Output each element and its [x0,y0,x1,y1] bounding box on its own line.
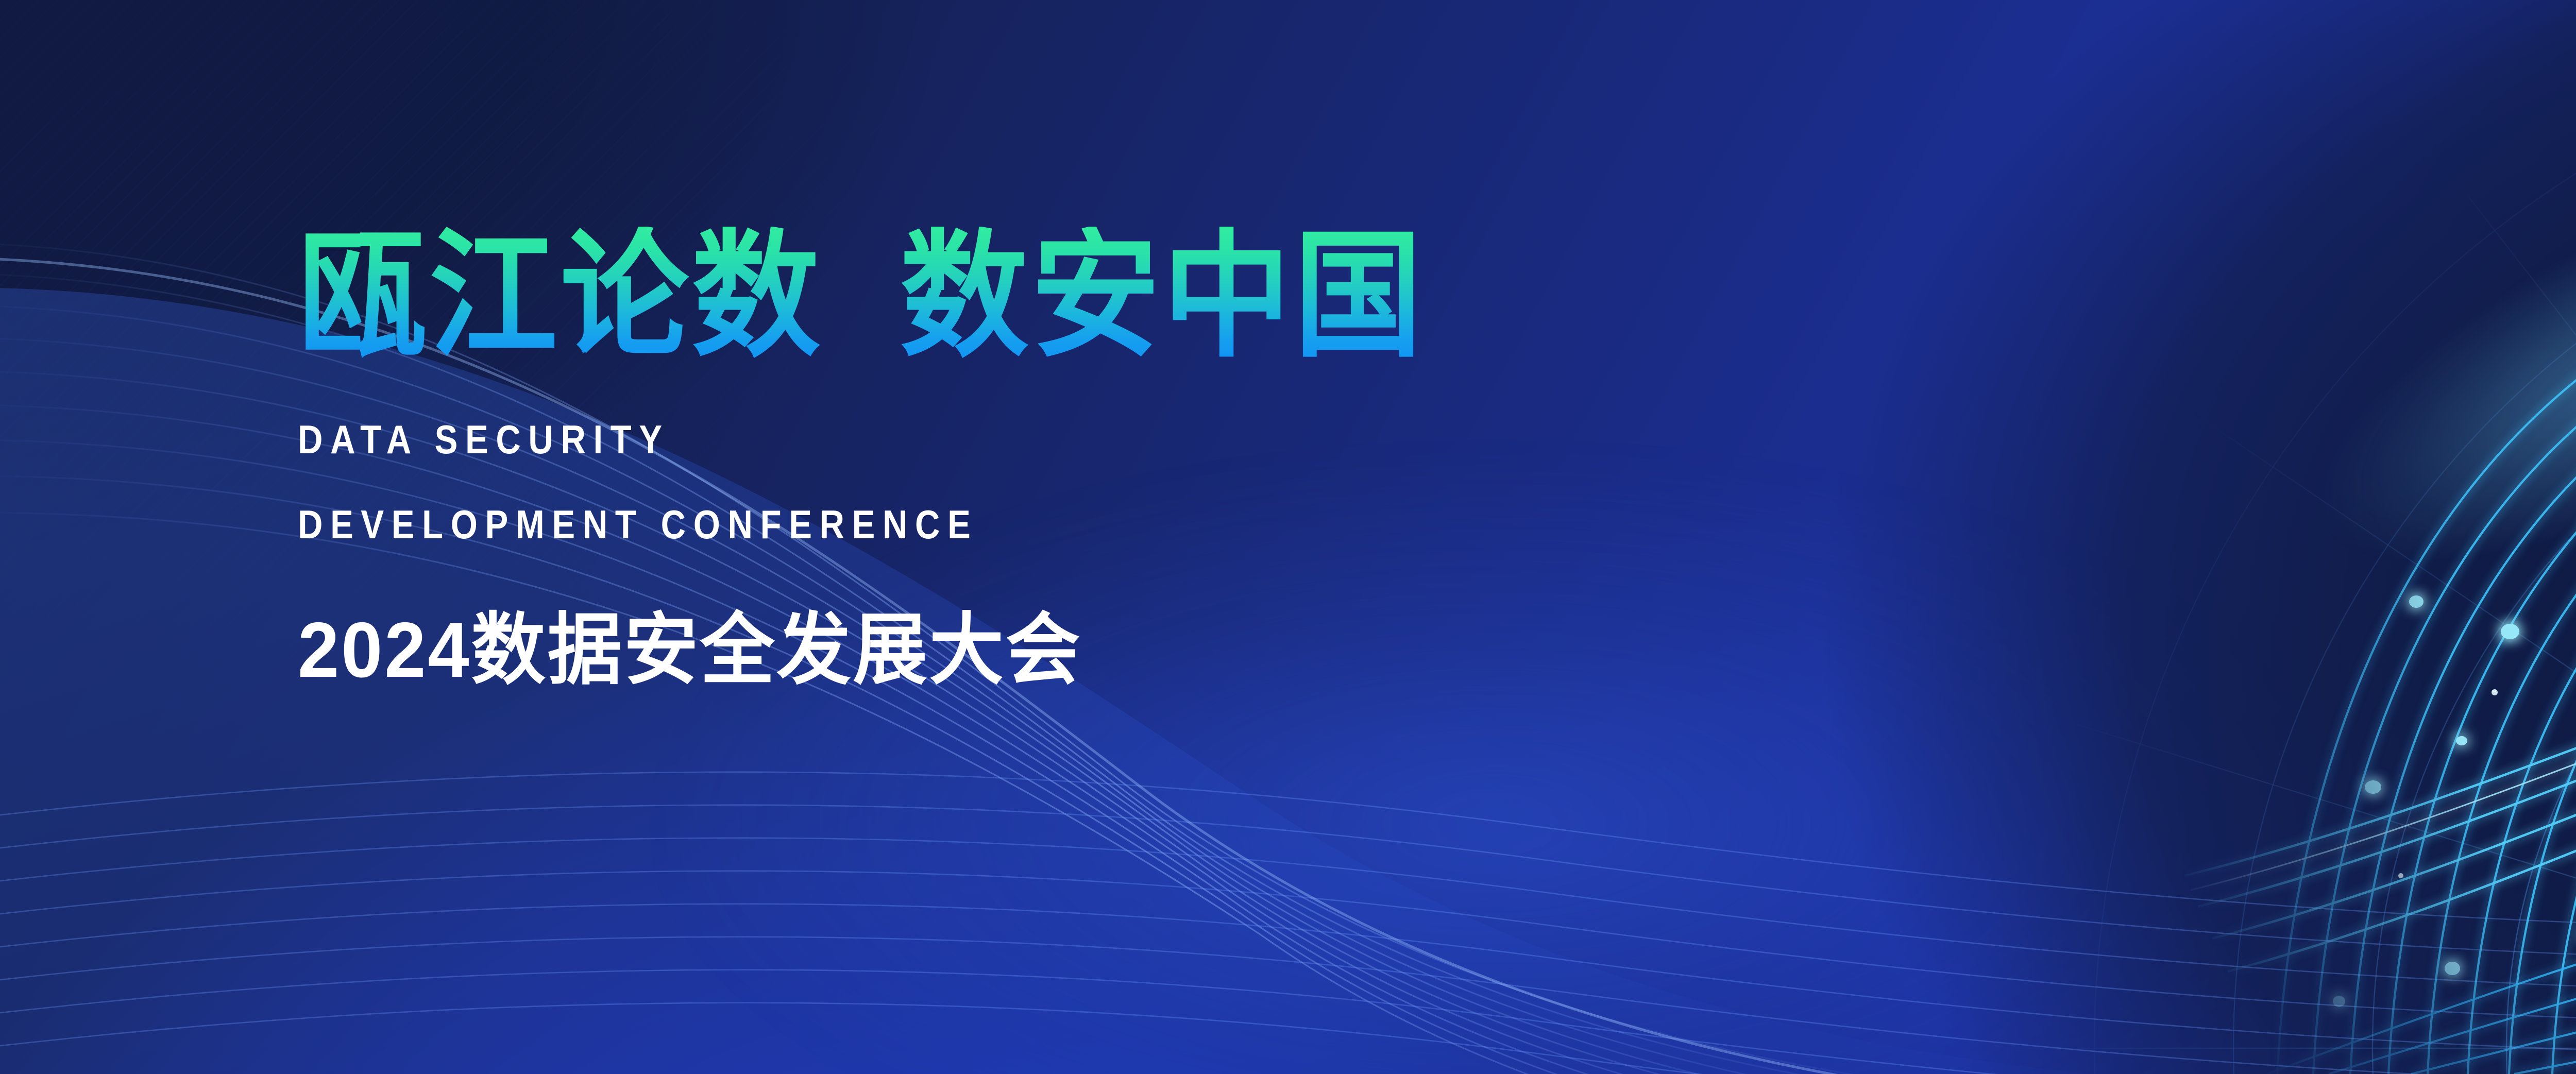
subtitle-english-line-1: DATA SECURITY [298,416,1893,463]
headline-block: 瓯江论数 数安中国 DATA SECURITY DEVELOPMENT CONF… [298,227,2153,700]
conference-banner: 瓯江论数 数安中国 DATA SECURITY DEVELOPMENT CONF… [0,0,2576,1074]
subtitle-english-line-2: DEVELOPMENT CONFERENCE [298,501,1893,548]
subtitle-chinese: 2024数据安全发展大会 [298,586,2060,700]
page-title: 瓯江论数 数安中国 [298,227,2023,365]
